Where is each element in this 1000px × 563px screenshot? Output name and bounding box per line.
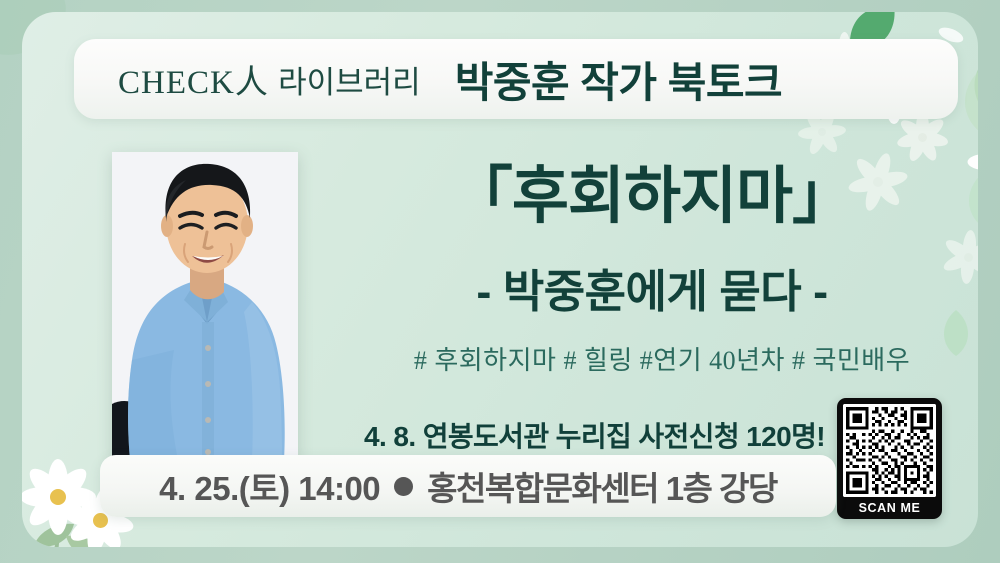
book-subtitle: - 박중훈에게 묻다 -: [352, 255, 952, 320]
event-datetime: 4. 25.(토) 14:00: [159, 462, 380, 510]
inner-panel: CHECK人 라이브러리 박중훈 작가 북토크: [22, 12, 978, 547]
qr-code-icon[interactable]: [843, 404, 936, 497]
brand-name-en: CHECK人: [118, 65, 269, 101]
hashtag-line: # 후회하지마 # 힐링 #연기 40년차 # 국민배우: [352, 340, 972, 377]
event-venue: 홍천복합문화센터 1층 강당: [427, 462, 777, 510]
book-title: 「후회하지마」: [352, 164, 952, 229]
separator-dot-icon: [394, 477, 413, 496]
qr-caption: SCAN ME: [859, 497, 921, 519]
qr-code-block[interactable]: SCAN ME: [837, 398, 942, 519]
page-title: 박중훈 작가 북토크: [455, 49, 782, 110]
speaker-portrait: [112, 152, 298, 460]
brand-name-ko: 라이브러리: [278, 65, 421, 100]
decor-leaf-pale-right2: [956, 168, 978, 232]
preregistration-notice: 4. 8. 연봉도서관 누리집 사전신청 120명!: [322, 415, 867, 455]
decor-leaf-pale-right: [966, 54, 978, 120]
portrait-illustration: [112, 152, 298, 460]
header-banner: CHECK人 라이브러리 박중훈 작가 북토크: [74, 39, 958, 119]
brand-lockup: CHECK人 라이브러리: [118, 55, 421, 103]
poster-root: CHECK人 라이브러리 박중훈 작가 북토크: [0, 0, 1000, 563]
event-info-bar: 4. 25.(토) 14:00 홍천복합문화센터 1층 강당: [100, 455, 836, 517]
